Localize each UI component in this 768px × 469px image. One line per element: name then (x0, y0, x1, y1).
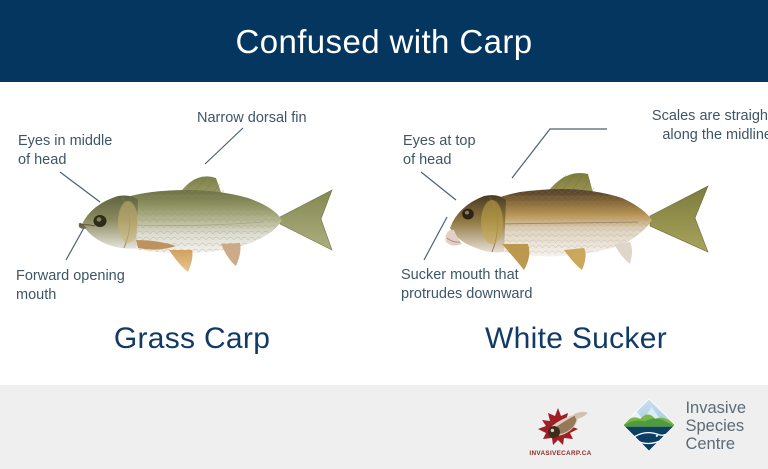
infographic-root: Confused with Carp (0, 0, 768, 469)
panel-grass-carp: Eyes in middle of head Narrow dorsal fin… (0, 82, 384, 385)
callout-grass-carp-eyes: Eyes in middle of head (18, 132, 158, 170)
isc-word-centre: Centre (685, 436, 746, 454)
logo-invasivecarp[interactable]: INVASIVECARP.CA (524, 397, 596, 457)
species-name-white-sucker: White Sucker (384, 322, 768, 356)
isc-word-invasive: Invasive (685, 400, 746, 418)
grass-carp-illustration (66, 162, 336, 277)
panel-white-sucker: Eyes at top of head Scales are straight … (384, 82, 768, 385)
callout-white-sucker-scales: Scales are straight along the midline (612, 107, 768, 145)
footer-bar: INVASIVECARP.CA (0, 385, 768, 469)
callout-white-sucker-eyes: Eyes at top of head (403, 132, 523, 170)
isc-word-species: Species (685, 418, 746, 436)
invasive-species-centre-diamond-icon (622, 398, 676, 457)
logo-invasivecarp-caption: INVASIVECARP.CA (529, 450, 591, 457)
callout-grass-carp-mouth: Forward opening mouth (16, 267, 176, 305)
white-sucker-illustration (432, 160, 712, 278)
header-bar: Confused with Carp (0, 0, 768, 82)
species-name-grass-carp: Grass Carp (0, 322, 384, 356)
callout-white-sucker-mouth: Sucker mouth that protrudes downward (401, 266, 581, 304)
logo-invasive-species-centre[interactable]: Invasive Species Centre (622, 398, 746, 457)
page-title: Confused with Carp (235, 25, 532, 58)
logo-row: INVASIVECARP.CA (524, 385, 746, 469)
callout-grass-carp-dorsal-fin: Narrow dorsal fin (197, 109, 357, 128)
logo-invasive-species-centre-wordmark: Invasive Species Centre (685, 400, 746, 453)
comparison-area: Eyes in middle of head Narrow dorsal fin… (0, 82, 768, 385)
maple-leaf-carp-logo-icon (528, 405, 592, 449)
